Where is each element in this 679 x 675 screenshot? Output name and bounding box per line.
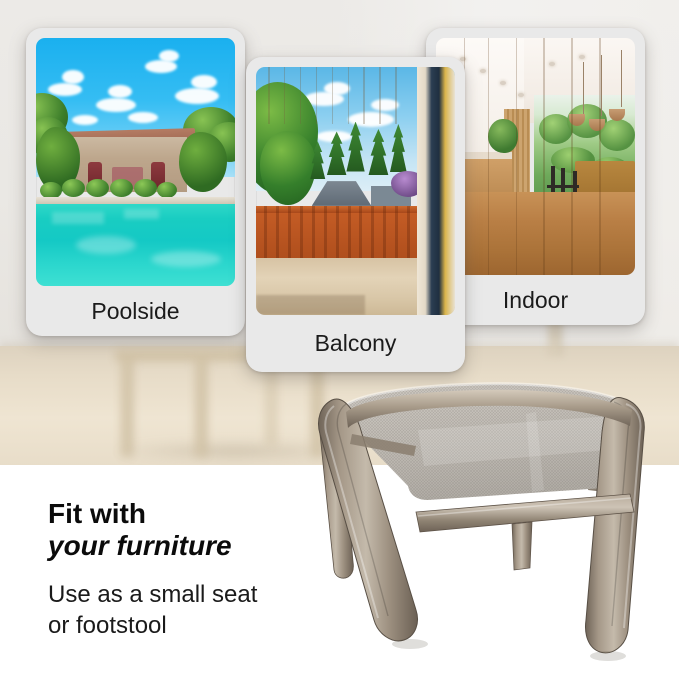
- railing-slat: [324, 206, 327, 258]
- railing-slat: [348, 206, 351, 258]
- pendant-wire: [621, 50, 622, 107]
- cloud: [48, 83, 82, 96]
- poolside-caption-label: Poolside: [91, 298, 179, 325]
- promo-headline: Fit with your furniture: [48, 498, 348, 563]
- indoor-photo: [436, 38, 635, 275]
- scene-card-poolside[interactable]: Poolside: [26, 28, 245, 336]
- promo-subtext-line1: Use as a small seat: [48, 581, 257, 608]
- floor-plank-line: [543, 38, 544, 275]
- poolside-photo: [36, 38, 235, 286]
- recessed-light-icon: [579, 55, 585, 59]
- railing-slat: [276, 206, 279, 258]
- promo-subtext-line2: or footstool: [48, 612, 167, 639]
- pendant-wire: [583, 62, 584, 119]
- marketing-image-stage: Poolside: [0, 0, 679, 675]
- deck-shadow: [256, 295, 365, 315]
- indoor-wood-floor: [436, 192, 635, 275]
- background-table-leg: [121, 359, 133, 457]
- promo-headline-line2: your furniture: [48, 530, 348, 562]
- railing-slat: [288, 206, 291, 258]
- hedge-ball: [62, 179, 85, 197]
- railing-slat: [383, 206, 386, 258]
- cloud: [96, 98, 136, 112]
- deck-plank-line: [268, 67, 270, 124]
- pool-reflection: [52, 212, 104, 224]
- deck-plank-line: [316, 67, 318, 124]
- recessed-light-icon: [480, 69, 486, 73]
- hedge-ball: [157, 182, 177, 198]
- railing-slat: [312, 206, 315, 258]
- railing-slat: [395, 206, 398, 258]
- scene-card-balcony[interactable]: Balcony: [246, 57, 465, 372]
- floor-plank-line: [488, 38, 489, 275]
- indoor-caption-label: Indoor: [503, 287, 568, 314]
- floor-plank-line: [516, 38, 517, 275]
- deck-plank-line: [332, 67, 334, 124]
- balcony-photo: [256, 67, 455, 315]
- balcony-caption: Balcony: [246, 315, 465, 372]
- promo-headline-line1: Fit with: [48, 498, 146, 529]
- deck-plank-line: [348, 67, 350, 124]
- railing-slat: [407, 206, 410, 258]
- recessed-light-icon: [500, 81, 506, 85]
- background-table-leg: [195, 359, 207, 457]
- floor-plank-line: [599, 38, 600, 275]
- deck-plank-line: [363, 67, 365, 124]
- balcony-caption-label: Balcony: [315, 330, 397, 357]
- promo-text-block: Fit with your furniture Use as a small s…: [48, 498, 348, 641]
- railing-slat: [371, 206, 374, 258]
- deck-plank-line: [395, 67, 397, 124]
- railing-slat: [336, 206, 339, 258]
- hedge-ball: [110, 179, 133, 197]
- product-footstool: [300, 372, 679, 672]
- cloud: [108, 85, 132, 98]
- deck-plank-line: [300, 67, 302, 124]
- railing-slat: [359, 206, 362, 258]
- recessed-light-icon: [518, 93, 524, 97]
- indoor-potted-plant: [488, 119, 518, 153]
- balcony-house-wall: [417, 67, 455, 315]
- deck-plank-line: [379, 67, 381, 124]
- pool-deck-edge: [36, 197, 235, 204]
- pool-reflection: [124, 209, 160, 219]
- cloud: [72, 115, 98, 125]
- cloud: [175, 88, 219, 104]
- pendant-wire: [601, 55, 602, 117]
- poolside-caption: Poolside: [26, 286, 245, 336]
- cloud: [348, 112, 394, 127]
- deck-plank-line: [284, 67, 286, 124]
- cloud: [324, 82, 350, 95]
- recessed-light-icon: [549, 62, 555, 66]
- ivy-hedge: [179, 132, 227, 192]
- dining-chair-seat: [547, 185, 579, 188]
- railing-slat: [264, 206, 267, 258]
- balcony-tree: [260, 131, 316, 205]
- railing-slat: [300, 206, 303, 258]
- floor-plank-line: [571, 38, 572, 275]
- hedge-ball: [86, 179, 109, 197]
- promo-subtext: Use as a small seat or footstool: [48, 579, 348, 641]
- hedge-ball: [134, 179, 157, 197]
